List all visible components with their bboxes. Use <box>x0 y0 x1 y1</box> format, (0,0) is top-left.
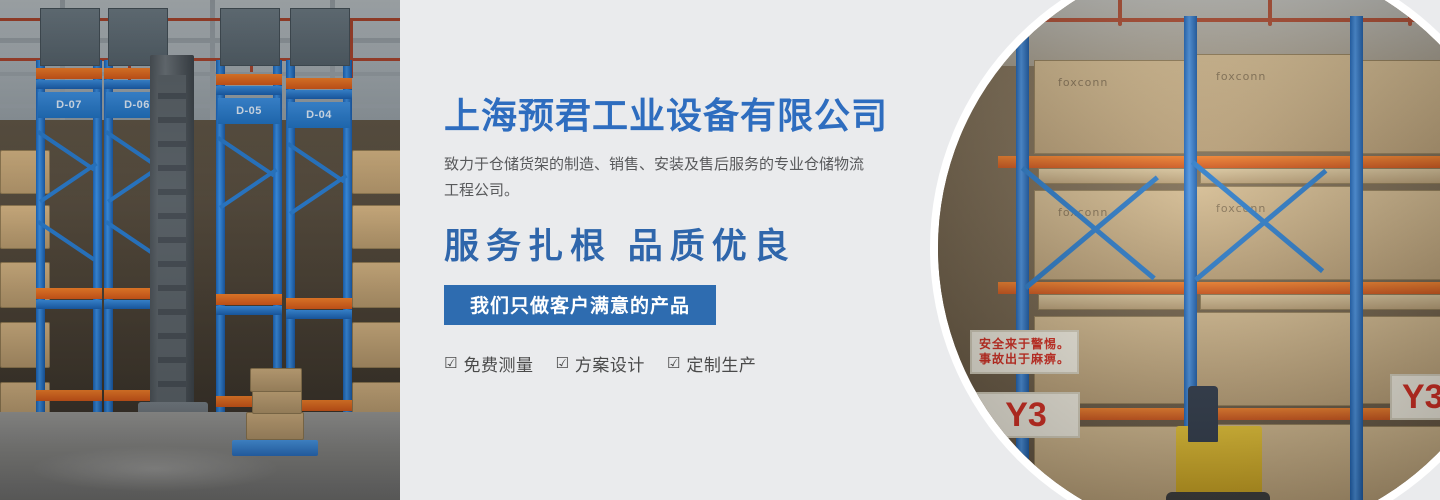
cta-button[interactable]: 我们只做客户满意的产品 <box>444 285 716 325</box>
company-subtitle: 致力于仓储货架的制造、销售、安装及售后服务的专业仓储物流工程公司。 <box>444 152 864 205</box>
feature-label: 方案设计 <box>575 351 645 376</box>
feature-label: 定制生产 <box>686 351 756 376</box>
right-warehouse-photo: foxconn foxconn foxconn foxconn <box>930 0 1440 500</box>
checkbox-checked-icon: ☑ <box>444 356 457 371</box>
feature-list: ☑ 免费测量 ☑ 方案设计 ☑ 定制生产 <box>444 351 914 376</box>
left-warehouse-photo: D-07 D-06 <box>0 0 400 500</box>
slogan: 服务扎根 品质优良 <box>444 218 914 269</box>
promo-banner: D-07 D-06 <box>0 0 1440 500</box>
circle-photo-clip: foxconn foxconn foxconn foxconn <box>938 0 1440 500</box>
photo-shading <box>938 0 1440 500</box>
company-title: 上海预君工业设备有限公司 <box>444 96 914 136</box>
banner-content: 上海预君工业设备有限公司 致力于仓储货架的制造、销售、安装及售后服务的专业仓储物… <box>444 96 914 376</box>
feature-item-free-measure: ☑ 免费测量 <box>444 351 533 376</box>
feature-label: 免费测量 <box>463 351 533 376</box>
photo-shading <box>0 0 400 500</box>
feature-item-plan-design: ☑ 方案设计 <box>555 351 644 376</box>
checkbox-checked-icon: ☑ <box>555 356 568 371</box>
feature-item-custom-production: ☑ 定制生产 <box>667 351 756 376</box>
checkbox-checked-icon: ☑ <box>667 356 680 371</box>
